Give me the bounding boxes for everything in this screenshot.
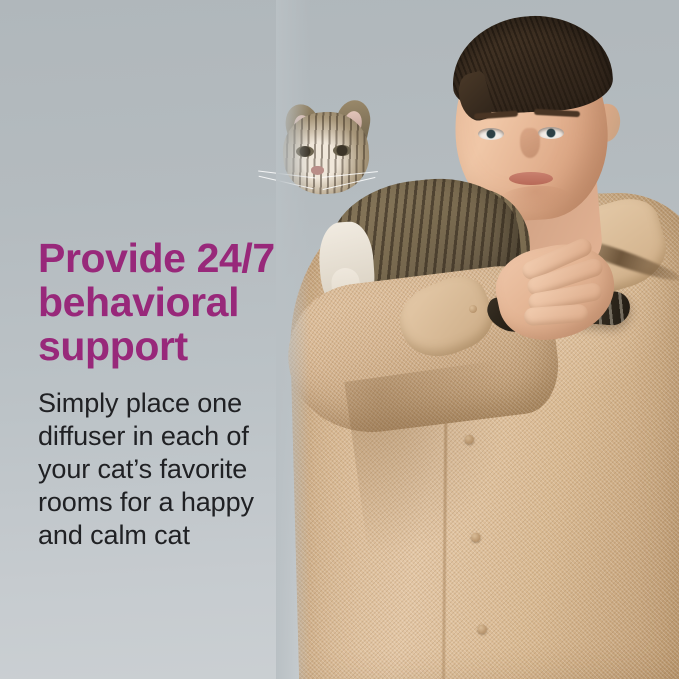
eye-left	[478, 128, 504, 140]
arm-shadow	[344, 360, 527, 561]
nose	[520, 128, 540, 158]
page-title: Provide 24/7 behavioral support	[38, 236, 338, 368]
marketing-copy-block: Provide 24/7 behavioral support Simply p…	[38, 236, 338, 552]
sleeve-button	[469, 305, 477, 313]
cat-eye-right	[333, 145, 351, 156]
cat-nose	[311, 166, 324, 175]
cat-eye-left	[296, 146, 314, 157]
body-text: Simply place one diffuser in each of you…	[38, 368, 338, 552]
mouth	[509, 172, 553, 185]
product-lifestyle-banner: Provide 24/7 behavioral support Simply p…	[0, 0, 679, 679]
eye-right	[538, 127, 564, 139]
hair	[450, 12, 615, 116]
